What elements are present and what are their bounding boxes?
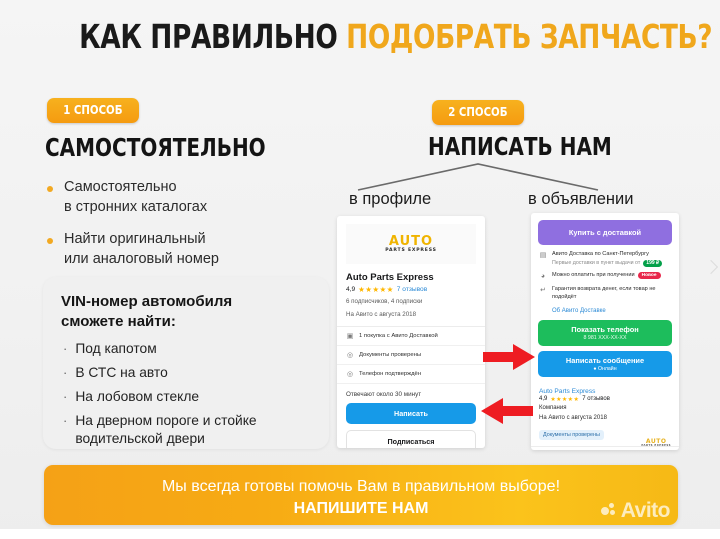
guarantee-row: ↵ Гарантия возврата денег, если товар не…: [531, 286, 679, 307]
box-icon: ▣: [346, 332, 354, 340]
seller-type: Компания: [531, 403, 679, 413]
about-delivery-link[interactable]: Об Авито Доставке: [531, 307, 679, 320]
profile-feature-label: 1 покупка с Авито Доставкой: [359, 333, 438, 339]
badge-method-2-label: 2 СПОСОБ: [448, 105, 507, 119]
bullet-dot-icon: [47, 238, 53, 244]
list-item: ·На лобовом стекле: [61, 388, 311, 406]
docs-verified-badge: Документы проверены: [539, 430, 604, 440]
heading-method-1: САМОСТОЯТЕЛЬНО: [45, 135, 321, 160]
list-item-label: В СТС на авто: [75, 364, 167, 382]
write-message-label: Написать сообщение: [538, 356, 672, 365]
advert-screenshot-card: Купить с доставкой ▤ Авито Доставка по С…: [531, 213, 679, 450]
seller-name-link[interactable]: Auto Parts Express: [531, 383, 679, 395]
write-button[interactable]: Написать: [346, 403, 476, 424]
delivery-sub: Первые доставки в пункт выдачи от: [552, 260, 640, 267]
truck-icon: ▤: [539, 252, 547, 260]
return-arrow-icon: ↵: [539, 287, 547, 295]
delivery-title: Авито Доставка по Санкт-Петербургу: [552, 251, 649, 257]
bottom-edge: [0, 529, 720, 539]
heading-method-2: НАПИСАТЬ НАМ: [428, 134, 658, 159]
list-item-label: На лобовом стекле: [75, 388, 199, 406]
write-message-button[interactable]: Написать сообщение ● Онлайн: [538, 351, 672, 377]
footer-line-1: Мы всегда готовы помочь Вам в правильном…: [44, 465, 678, 496]
profile-feature-row: ◎ Документы проверены: [337, 346, 485, 365]
profile-rating-row: 4,9 ★★★★★ 7 отзывов: [346, 285, 476, 294]
page-fold-marker: [704, 260, 718, 274]
pay-on-receipt-label: Можно оплатить при получении: [552, 272, 635, 278]
branch-connector-lines: [350, 160, 670, 192]
bullet-dot-icon: [47, 186, 53, 192]
delivery-price-badge: 199 ₽: [643, 260, 662, 267]
new-badge: Новое: [638, 272, 661, 279]
profile-logo-sub: PARTS EXPRESS: [385, 249, 436, 254]
bullet-dot-icon: ·: [63, 388, 67, 406]
star-icon: ★★★★★: [550, 396, 579, 403]
method-1-bullet-list: Самостоятельно в стронних каталогах Найт…: [44, 178, 324, 282]
list-item: ·Под капотом: [61, 340, 311, 358]
profile-logo: AUTO PARTS EXPRESS: [346, 224, 476, 264]
poster-canvas: КАК ПРАВИЛЬНО ПОДОБРАТЬ ЗАПЧАСТЬ? 1 СПОС…: [0, 0, 720, 539]
profile-feature-label: Телефон подтверждён: [359, 371, 421, 377]
branch-label-advert: в объявлении: [528, 190, 633, 209]
seller-mini-logo: AUTO PARTS EXPRESS: [641, 439, 671, 448]
list-item: ·В СТС на авто: [61, 364, 311, 382]
check-circle-icon: ◎: [346, 351, 354, 359]
profile-screenshot-card: AUTO PARTS EXPRESS Auto Parts Express 4,…: [337, 216, 485, 448]
pay-on-receipt-row: ◕ Можно оплатить при полученииНовое: [531, 272, 679, 286]
wallet-icon: ◕: [539, 273, 547, 281]
seller-rating-row: 4,9 ★★★★★ 7 отзывов: [531, 395, 679, 403]
badge-method-1: 1 СПОСОБ: [47, 98, 139, 123]
avito-wordmark: Avito: [621, 500, 670, 521]
subscribe-button[interactable]: Подписаться: [346, 430, 476, 448]
profile-name: Auto Parts Express: [346, 272, 476, 283]
guarantee-label: Гарантия возврата денег, если товар не п…: [552, 286, 671, 302]
title-part-2: ПОДОБРАТЬ ЗАПЧАСТЬ?: [346, 17, 712, 56]
online-status: ● Онлайн: [538, 366, 672, 372]
page-title: КАК ПРАВИЛЬНО ПОДОБРАТЬ ЗАПЧАСТЬ?: [0, 20, 720, 53]
seller-since: На Авито с августа 2018: [531, 413, 679, 423]
star-icon: ★★★★★: [358, 285, 394, 294]
profile-feature-row: ▣ 1 покупка с Авито Доставкой: [337, 327, 485, 346]
check-circle-icon: ◎: [346, 370, 354, 378]
bullet-dot-icon: ·: [63, 340, 67, 358]
seller-rating-value: 4,9: [539, 396, 547, 402]
seller-reviews: 7 отзывов: [582, 396, 610, 402]
delivery-info-row: ▤ Авито Доставка по Санкт-Петербургу Пер…: [531, 251, 679, 272]
avito-watermark: Avito: [601, 500, 670, 521]
bullet-dot-icon: ·: [63, 364, 67, 382]
list-item-label: Найти оригинальный или аналоговый номер: [64, 230, 219, 269]
profile-feature-label: Документы проверены: [359, 352, 421, 358]
list-item-label: Под капотом: [75, 340, 156, 358]
vin-info-card: VIN-номер автомобиля сможете найти: ·Под…: [43, 277, 329, 449]
avito-dots-icon: [601, 503, 618, 518]
profile-reviews-link[interactable]: 7 отзывов: [397, 286, 427, 293]
footer-banner: Мы всегда готовы помочь Вам в правильном…: [44, 465, 678, 525]
profile-reply-time: Отвечают около 30 минут: [346, 391, 476, 398]
profile-logo-main: AUTO: [389, 234, 433, 249]
vin-card-title: VIN-номер автомобиля сможете найти:: [61, 292, 311, 331]
branch-label-profile: в профиле: [349, 190, 431, 209]
list-item: ·На дверном пороге и стойке водительской…: [61, 412, 311, 448]
badge-method-2: 2 СПОСОБ: [432, 100, 524, 125]
red-arrow-right-icon: [483, 344, 535, 370]
list-item-label: На дверном пороге и стойке водительской …: [75, 412, 256, 448]
buy-with-delivery-button[interactable]: Купить с доставкой: [538, 220, 672, 245]
list-item: Найти оригинальный или аналоговый номер: [44, 230, 324, 269]
profile-followers: 6 подписчиков, 4 подписки: [346, 297, 476, 307]
badge-method-1-label: 1 СПОСОБ: [63, 103, 122, 117]
show-phone-label: Показать телефон: [538, 325, 672, 334]
profile-since: На Авито с августа 2018: [346, 310, 476, 320]
title-part-1: КАК ПРАВИЛЬНО: [79, 17, 346, 56]
list-item-label: Самостоятельно в стронних каталогах: [64, 178, 207, 217]
list-item: Самостоятельно в стронних каталогах: [44, 178, 324, 217]
show-phone-button[interactable]: Показать телефон 8 981 XXX-XX-XX: [538, 320, 672, 346]
bullet-dot-icon: ·: [63, 412, 67, 430]
phone-number: 8 981 XXX-XX-XX: [538, 335, 672, 341]
profile-rating-value: 4,9: [346, 286, 355, 293]
red-arrow-left-icon: [481, 398, 533, 424]
footer-line-2: НАПИШИТЕ НАМ: [44, 500, 678, 518]
profile-feature-row: ◎ Телефон подтверждён: [337, 365, 485, 384]
